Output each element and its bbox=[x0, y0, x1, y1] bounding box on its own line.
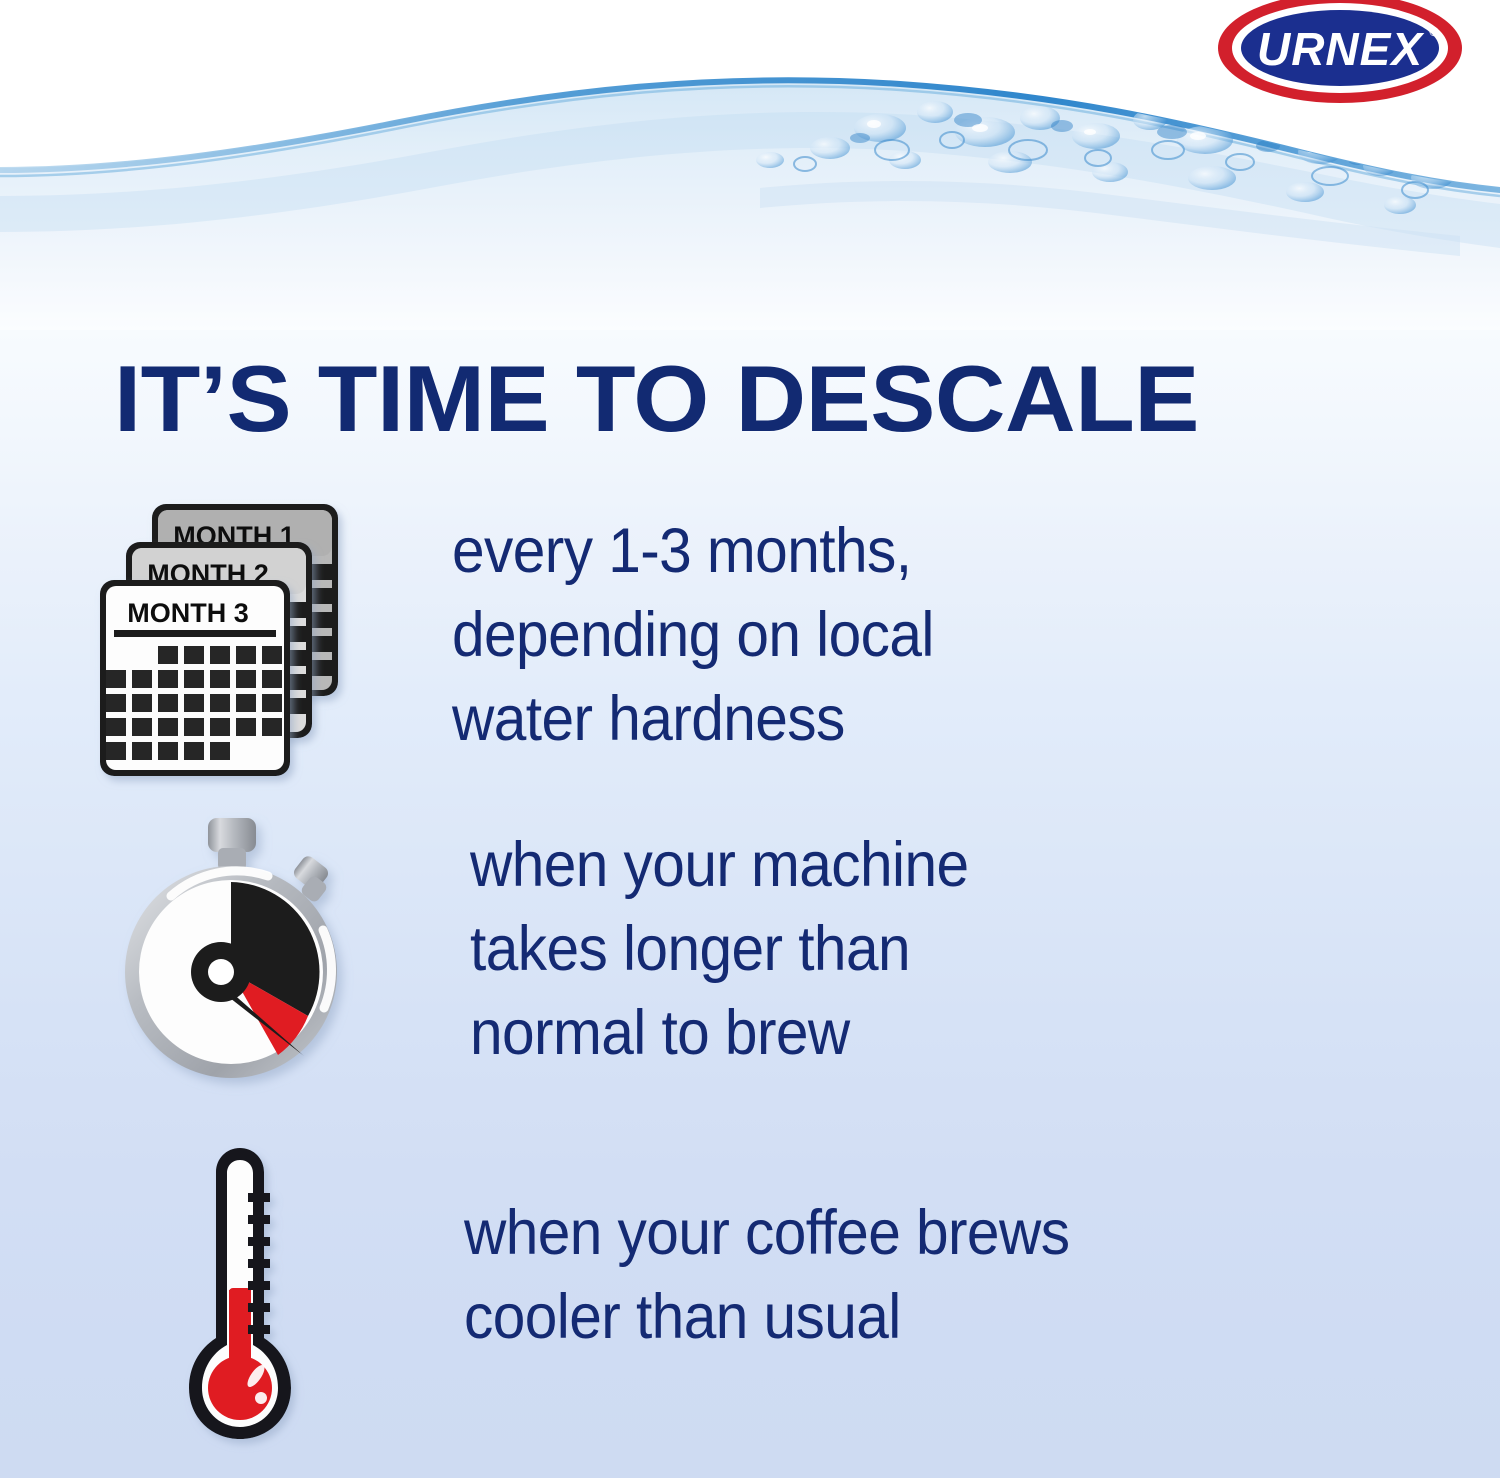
reason-text-calendar: every 1-3 months, depending on local wat… bbox=[452, 510, 934, 761]
calendar-month-3-label: MONTH 3 bbox=[127, 598, 249, 628]
urnex-logo[interactable]: URNEX ® bbox=[1216, 0, 1464, 110]
reason-text-stopwatch: when your machine takes longer than norm… bbox=[470, 824, 969, 1075]
reason-row-thermometer: when your coffee brews cooler than usual bbox=[176, 1142, 1115, 1442]
calendar-stack-graphic: MONTH 1 MONTH 2 bbox=[96, 498, 358, 780]
urnex-logo-mark: URNEX ® bbox=[1216, 0, 1464, 110]
logo-wordmark: URNEX bbox=[1257, 23, 1424, 75]
calendar-month-3: MONTH 3 bbox=[100, 580, 290, 776]
reason-row-calendar: MONTH 1 MONTH 2 bbox=[96, 498, 970, 780]
thermometer-icon bbox=[176, 1142, 304, 1442]
stopwatch-icon bbox=[118, 812, 360, 1084]
thermometer-mercury bbox=[229, 1290, 251, 1390]
reason-text-thermometer: when your coffee brews cooler than usual bbox=[464, 1192, 1069, 1360]
thermometer-mercury-cap bbox=[229, 1288, 251, 1296]
page-title: IT’S TIME TO DESCALE bbox=[114, 352, 1466, 446]
logo-registered-mark: ® bbox=[1429, 24, 1439, 39]
stopwatch-crown bbox=[208, 818, 256, 870]
calendar-header-rule bbox=[114, 630, 276, 637]
calendar-stack-icon: MONTH 1 MONTH 2 bbox=[96, 498, 358, 780]
thermometer-graphic bbox=[176, 1142, 304, 1442]
reason-row-stopwatch: when your machine takes longer than norm… bbox=[118, 812, 1006, 1084]
stopwatch-graphic bbox=[118, 812, 360, 1084]
descale-infographic-poster: URNEX ® IT’S TIME TO DESCALE MONTH 1 bbox=[0, 0, 1500, 1478]
